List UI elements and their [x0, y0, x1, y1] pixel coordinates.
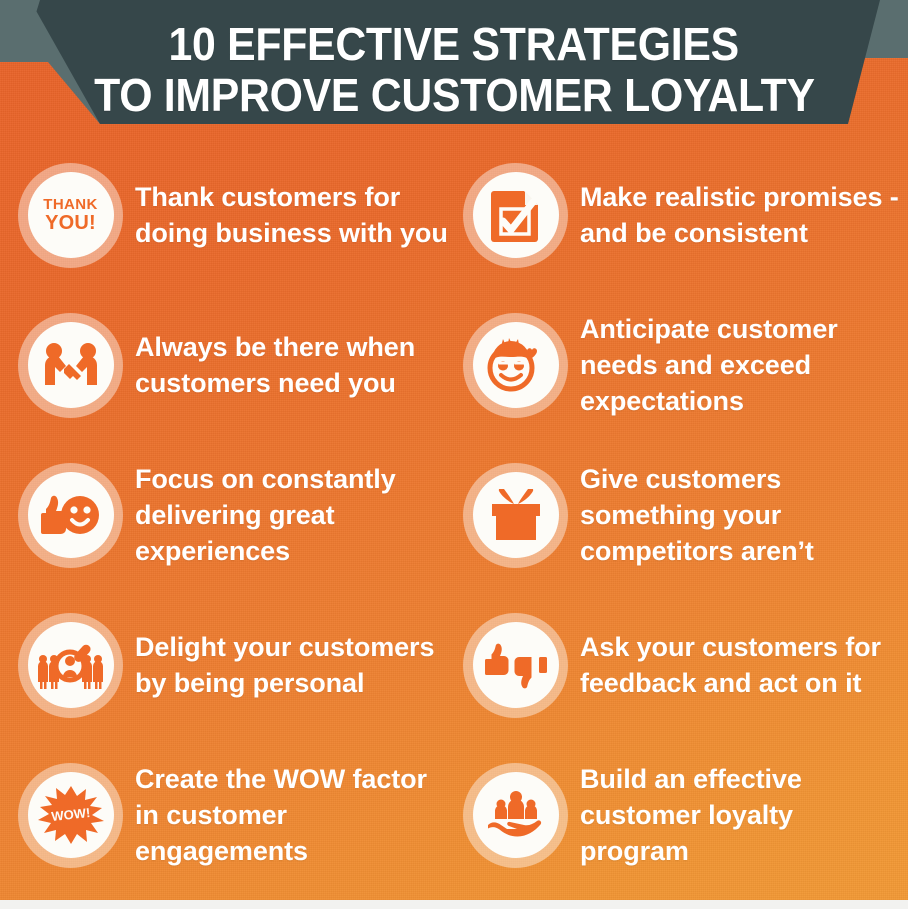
- strategy-item-5[interactable]: Focus on constantly delivering great exp…: [0, 440, 453, 590]
- strategy-item-7[interactable]: Delight your customers by being personal: [0, 590, 453, 740]
- strategy-item-8[interactable]: Ask your customers for feedback and act …: [453, 590, 908, 740]
- strategy-icon-badge-3: [18, 313, 123, 418]
- strategy-label-7: Delight your customers by being personal: [135, 629, 453, 701]
- strategy-item-2[interactable]: Make realistic promises - and be consist…: [453, 140, 908, 290]
- hand-holding-people-icon: [485, 789, 547, 841]
- magnifier-crowd-icon: [37, 639, 105, 691]
- gift-box-icon: [488, 489, 544, 541]
- strategy-label-5: Focus on constantly delivering great exp…: [135, 461, 453, 569]
- wow-burst-icon: WOW!: [38, 786, 104, 844]
- strategy-label-9: Create the WOW factor in customer engage…: [135, 761, 453, 869]
- thank-you-icon: THANK YOU!: [43, 197, 98, 233]
- document-check-icon: [491, 188, 541, 242]
- infographic-poster: 10 EFFECTIVE STRATEGIES TO IMPROVE CUSTO…: [0, 0, 908, 909]
- strategy-item-1[interactable]: THANK YOU! Thank customers for doing bus…: [0, 140, 453, 290]
- strategy-label-3: Always be there when customers need you: [135, 329, 453, 401]
- strategy-label-1: Thank customers for doing business with …: [135, 179, 453, 251]
- thumbs-up-smiley-icon: [41, 491, 101, 539]
- header-banner-shape: [0, 0, 908, 140]
- strategy-icon-badge-1: THANK YOU!: [18, 163, 123, 268]
- strategy-label-8: Ask your customers for feedback and act …: [580, 629, 908, 701]
- strategy-icon-badge-2: [463, 163, 568, 268]
- strategy-icon-badge-6: [463, 463, 568, 568]
- happy-face-heart-icon: [487, 338, 545, 392]
- strategy-label-2: Make realistic promises - and be consist…: [580, 179, 908, 251]
- strategy-item-3[interactable]: Always be there when customers need you: [0, 290, 453, 440]
- thank-you-icon-line2: YOU!: [43, 213, 98, 233]
- strategy-grid: THANK YOU! Thank customers for doing bus…: [0, 140, 908, 885]
- strategy-icon-badge-10: [463, 763, 568, 868]
- strategy-icon-badge-9: WOW!: [18, 763, 123, 868]
- strategy-item-10[interactable]: Build an effective customer loyalty prog…: [453, 740, 908, 890]
- handshake-icon: [43, 343, 99, 387]
- strategy-item-9[interactable]: WOW! Create the WOW factor in customer e…: [0, 740, 453, 890]
- strategy-label-4: Anticipate customer needs and exceed exp…: [580, 311, 908, 419]
- strategy-icon-badge-5: [18, 463, 123, 568]
- strategy-label-6: Give customers something your competitor…: [580, 461, 908, 569]
- header-banner: 10 EFFECTIVE STRATEGIES TO IMPROVE CUSTO…: [0, 0, 908, 140]
- strategy-item-4[interactable]: Anticipate customer needs and exceed exp…: [453, 290, 908, 440]
- strategy-icon-badge-4: [463, 313, 568, 418]
- strategy-label-10: Build an effective customer loyalty prog…: [580, 761, 908, 869]
- thumbs-up-down-icon: [485, 640, 547, 690]
- bottom-strip: [0, 900, 908, 909]
- strategy-item-6[interactable]: Give customers something your competitor…: [453, 440, 908, 590]
- strategy-icon-badge-7: [18, 613, 123, 718]
- thank-you-icon-line1: THANK: [43, 197, 98, 212]
- strategy-icon-badge-8: [463, 613, 568, 718]
